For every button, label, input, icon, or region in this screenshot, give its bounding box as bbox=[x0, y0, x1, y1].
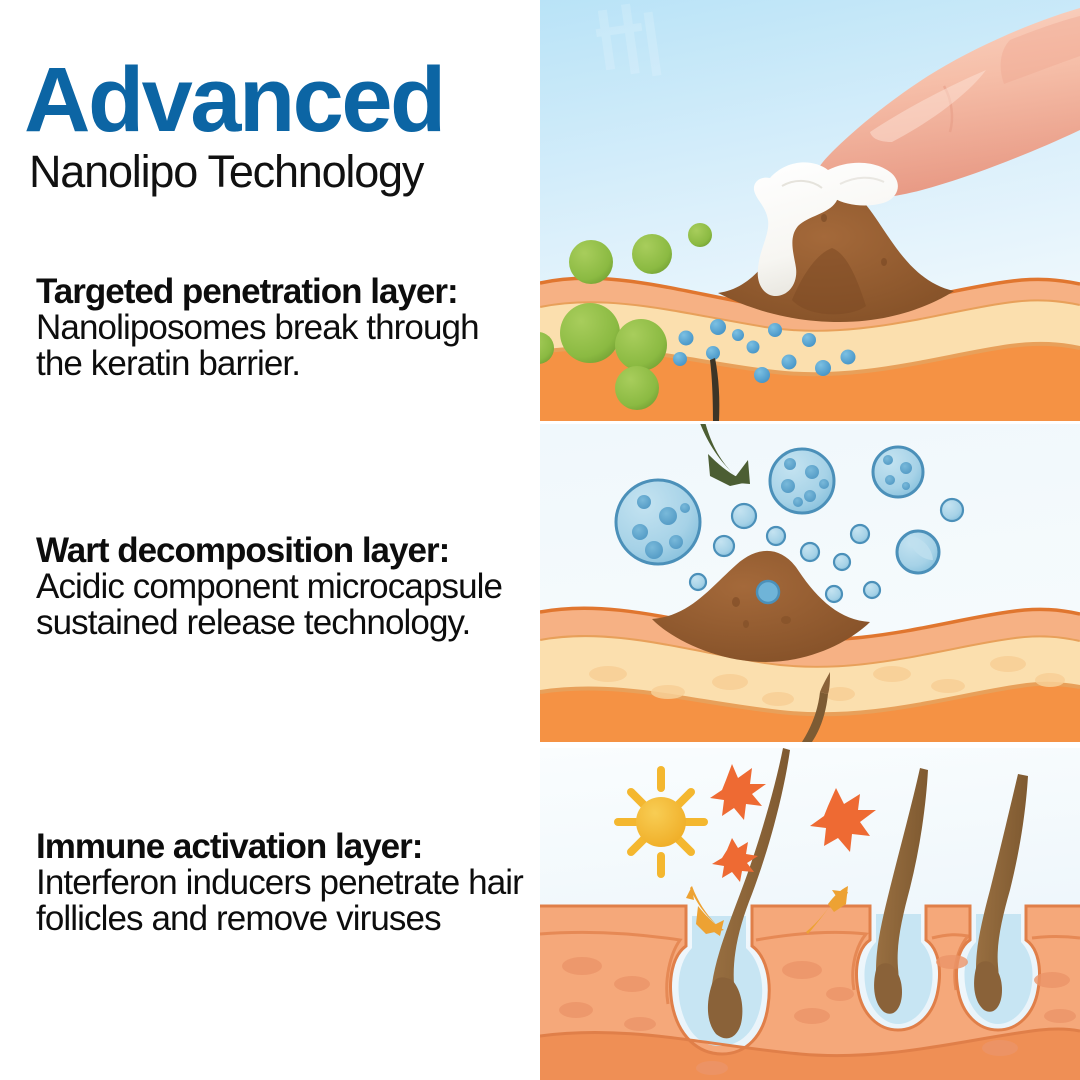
small-liposome bbox=[767, 527, 785, 545]
feature-lead: Targeted penetration layer: bbox=[36, 272, 458, 311]
blue-nano-dot bbox=[673, 352, 687, 366]
small-liposome bbox=[834, 554, 850, 570]
wart-speck bbox=[821, 214, 827, 222]
large-liposome bbox=[616, 480, 700, 564]
small-liposome bbox=[941, 499, 963, 521]
feature-body: Nanoliposomes break through the keratin … bbox=[36, 308, 479, 383]
wart-speck bbox=[781, 616, 791, 624]
feature-targeted-penetration: Targeted penetration layer: Nanoliposome… bbox=[36, 274, 532, 382]
page-subtitle: Nanolipo Technology bbox=[29, 149, 540, 194]
small-liposome bbox=[690, 574, 706, 590]
blue-nano-dot bbox=[747, 341, 760, 354]
small-liposome bbox=[851, 525, 869, 543]
blue-nano-dot bbox=[679, 331, 694, 346]
feature-text: Targeted penetration layer: Nanoliposome… bbox=[36, 274, 532, 382]
panel-application bbox=[540, 0, 1080, 421]
panel-immune bbox=[540, 748, 1080, 1080]
feature-body: Interferon inducers penetrate hair folli… bbox=[36, 863, 523, 938]
blue-nano-dot bbox=[754, 367, 770, 383]
illustration-column bbox=[540, 0, 1080, 1080]
green-particle bbox=[615, 366, 659, 410]
infographic-root: Advanced Nanolipo Technology Targeted pe… bbox=[0, 0, 1080, 1080]
blue-nano-dot bbox=[732, 329, 744, 341]
green-particle bbox=[632, 234, 672, 274]
blue-nano-dot bbox=[802, 333, 816, 347]
wart-speck bbox=[732, 597, 740, 607]
blue-nano-dot bbox=[782, 355, 797, 370]
feature-text: Wart decomposition layer: Acidic compone… bbox=[36, 533, 532, 641]
blue-nano-dot bbox=[815, 360, 831, 376]
green-particle bbox=[615, 319, 667, 371]
small-liposome bbox=[732, 504, 756, 528]
blue-nano-dot bbox=[768, 323, 782, 337]
feature-immune-activation: Immune activation layer: Interferon indu… bbox=[36, 829, 532, 937]
wart-speck bbox=[881, 258, 887, 266]
green-particle bbox=[560, 303, 620, 363]
skin-contour-line bbox=[1032, 937, 1080, 939]
small-liposome bbox=[801, 543, 819, 561]
panel-decomposition bbox=[540, 424, 1080, 742]
large-liposome bbox=[770, 449, 834, 513]
wart-speck bbox=[743, 620, 749, 628]
feature-lead: Wart decomposition layer: bbox=[36, 531, 449, 570]
small-liposome bbox=[826, 586, 842, 602]
liposome-in-wart bbox=[757, 581, 779, 603]
green-particle bbox=[688, 223, 712, 247]
blue-nano-dot bbox=[841, 350, 856, 365]
feature-lead: Immune activation layer: bbox=[36, 827, 422, 866]
green-particle bbox=[569, 240, 613, 284]
blue-nano-dot bbox=[706, 346, 720, 360]
text-column: Advanced Nanolipo Technology Targeted pe… bbox=[0, 0, 540, 1080]
feature-body: Acidic component microcapsule sustained … bbox=[36, 567, 502, 642]
large-liposome bbox=[897, 531, 939, 573]
page-title: Advanced bbox=[24, 58, 540, 143]
blue-nano-dot bbox=[710, 319, 726, 335]
large-liposome bbox=[873, 447, 923, 497]
feature-text: Immune activation layer: Interferon indu… bbox=[36, 829, 532, 937]
small-liposome bbox=[864, 582, 880, 598]
small-liposome bbox=[714, 536, 734, 556]
feature-wart-decomposition: Wart decomposition layer: Acidic compone… bbox=[36, 533, 532, 641]
title-block: Advanced Nanolipo Technology bbox=[24, 58, 540, 194]
